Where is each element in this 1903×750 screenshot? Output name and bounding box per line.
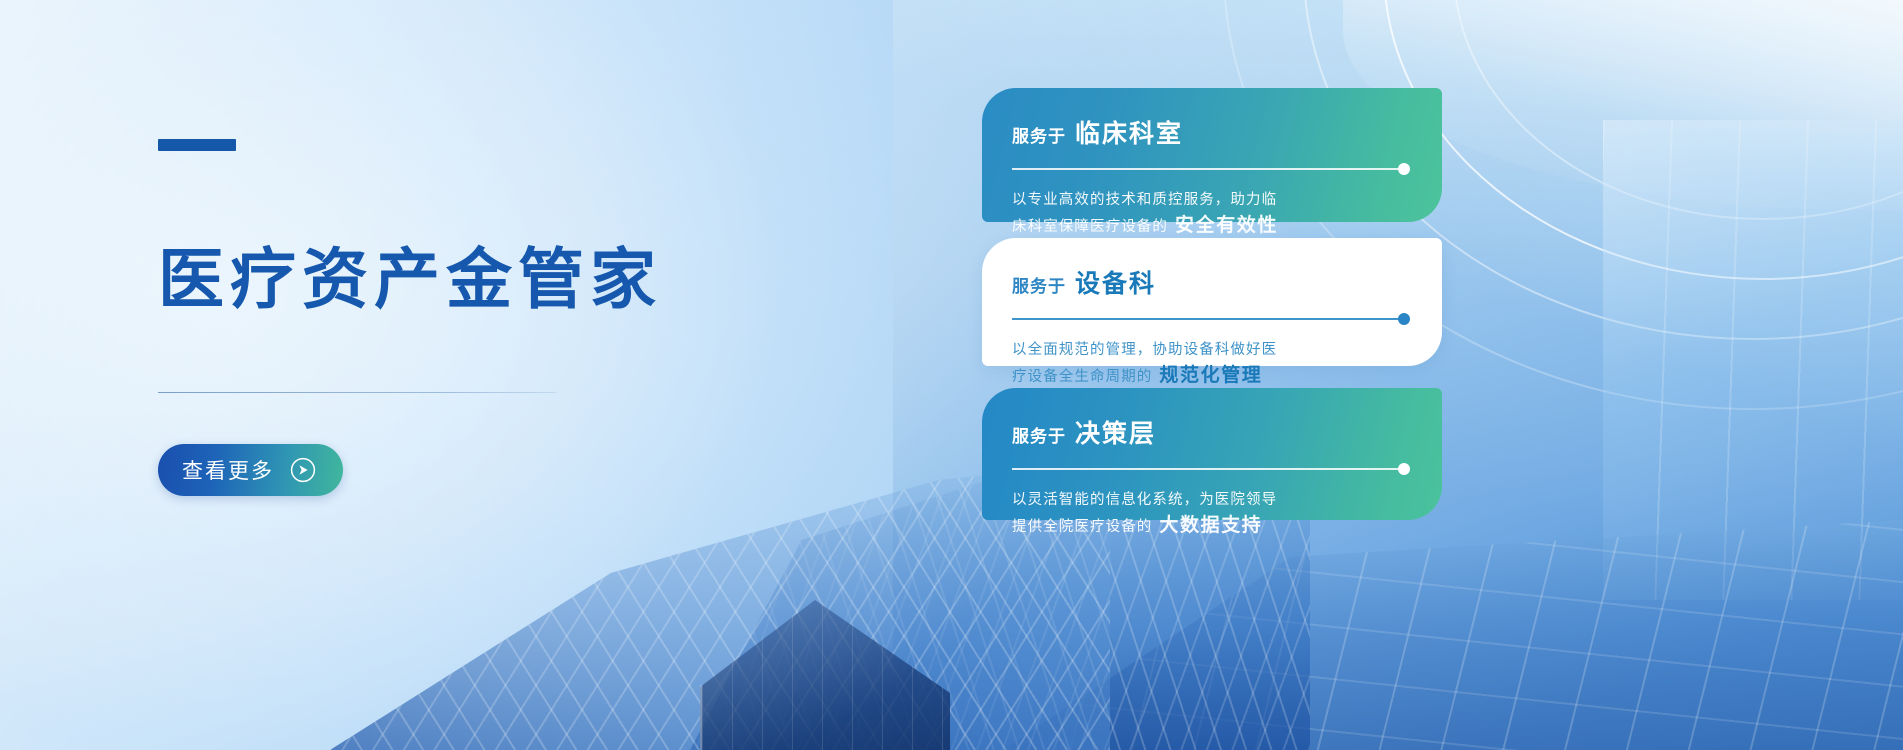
card-body: 以灵活智能的信息化系统，为医院领导 提供全院医疗设备的 大数据支持 — [1012, 487, 1412, 540]
card-prefix: 服务于 — [1012, 272, 1066, 297]
card-prefix: 服务于 — [1012, 422, 1066, 447]
card-body-line: 以全面规范的管理，协助设备科做好医 — [1012, 337, 1412, 363]
card-target: 设备科 — [1075, 264, 1156, 300]
card-heading: 服务于 决策层 — [1012, 414, 1412, 450]
service-card-decision[interactable]: 服务于 决策层 以灵活智能的信息化系统，为医院领导 提供全院医疗设备的 大数据支… — [982, 388, 1442, 520]
accent-dash — [158, 139, 236, 151]
service-cards: 服务于 临床科室 以专业高效的技术和质控服务，助力临 床科室保障医疗设备的 安全… — [982, 0, 1452, 750]
card-body-line: 提供全院医疗设备的 大数据支持 — [1012, 513, 1412, 540]
card-target: 决策层 — [1075, 414, 1156, 450]
card-body-text: 床科室保障医疗设备的 — [1012, 214, 1168, 240]
divider-line — [1012, 468, 1404, 470]
service-card-equipment[interactable]: 服务于 设备科 以全面规范的管理，协助设备科做好医 疗设备全生命周期的 规范化管… — [982, 238, 1442, 366]
ceiling-rib — [1383, 0, 1903, 280]
card-body-text: 提供全院医疗设备的 — [1012, 514, 1152, 540]
card-body-line: 床科室保障医疗设备的 安全有效性 — [1012, 213, 1412, 240]
card-target: 临床科室 — [1075, 114, 1183, 150]
circle-arrow-right-icon — [290, 457, 316, 483]
view-more-button[interactable]: 查看更多 — [158, 444, 343, 496]
card-body-emphasis: 大数据支持 — [1159, 513, 1262, 539]
divider-dot — [1398, 313, 1410, 325]
glass-wall — [1603, 120, 1903, 600]
card-body: 以专业高效的技术和质控服务，助力临 床科室保障医疗设备的 安全有效性 — [1012, 187, 1412, 240]
service-card-clinical[interactable]: 服务于 临床科室 以专业高效的技术和质控服务，助力临 床科室保障医疗设备的 安全… — [982, 88, 1442, 222]
card-body-line: 以灵活智能的信息化系统，为医院领导 — [1012, 487, 1412, 513]
view-more-label: 查看更多 — [182, 455, 274, 485]
ceiling-rib — [1453, 0, 1903, 220]
card-heading: 服务于 临床科室 — [1012, 114, 1412, 150]
divider-dot — [1398, 163, 1410, 175]
card-body: 以全面规范的管理，协助设备科做好医 疗设备全生命周期的 规范化管理 — [1012, 337, 1412, 390]
hero-banner: 医疗资产金管家 查看更多 服务于 临床科室 以专业高效的技术和质控服务，助力临 — [0, 0, 1903, 750]
card-body-text: 以专业高效的技术和质控服务，助力临 — [1012, 187, 1277, 213]
card-body-emphasis: 安全有效性 — [1175, 213, 1278, 239]
card-body-line: 以专业高效的技术和质控服务，助力临 — [1012, 187, 1412, 213]
card-body-line: 疗设备全生命周期的 规范化管理 — [1012, 363, 1412, 390]
divider-line — [1012, 168, 1404, 170]
hero-text-column: 医疗资产金管家 查看更多 — [158, 0, 778, 750]
card-body-emphasis: 规范化管理 — [1159, 363, 1262, 389]
card-body-text: 以灵活智能的信息化系统，为医院领导 — [1012, 487, 1277, 513]
card-prefix: 服务于 — [1012, 122, 1066, 147]
page-title: 医疗资产金管家 — [158, 240, 662, 318]
card-body-text: 疗设备全生命周期的 — [1012, 364, 1152, 390]
divider-dot — [1398, 463, 1410, 475]
card-divider — [1012, 463, 1412, 475]
card-divider — [1012, 313, 1412, 325]
card-divider — [1012, 163, 1412, 175]
divider-line — [1012, 318, 1404, 320]
card-body-text: 以全面规范的管理，协助设备科做好医 — [1012, 337, 1277, 363]
card-heading: 服务于 设备科 — [1012, 264, 1412, 300]
divider — [158, 392, 556, 393]
